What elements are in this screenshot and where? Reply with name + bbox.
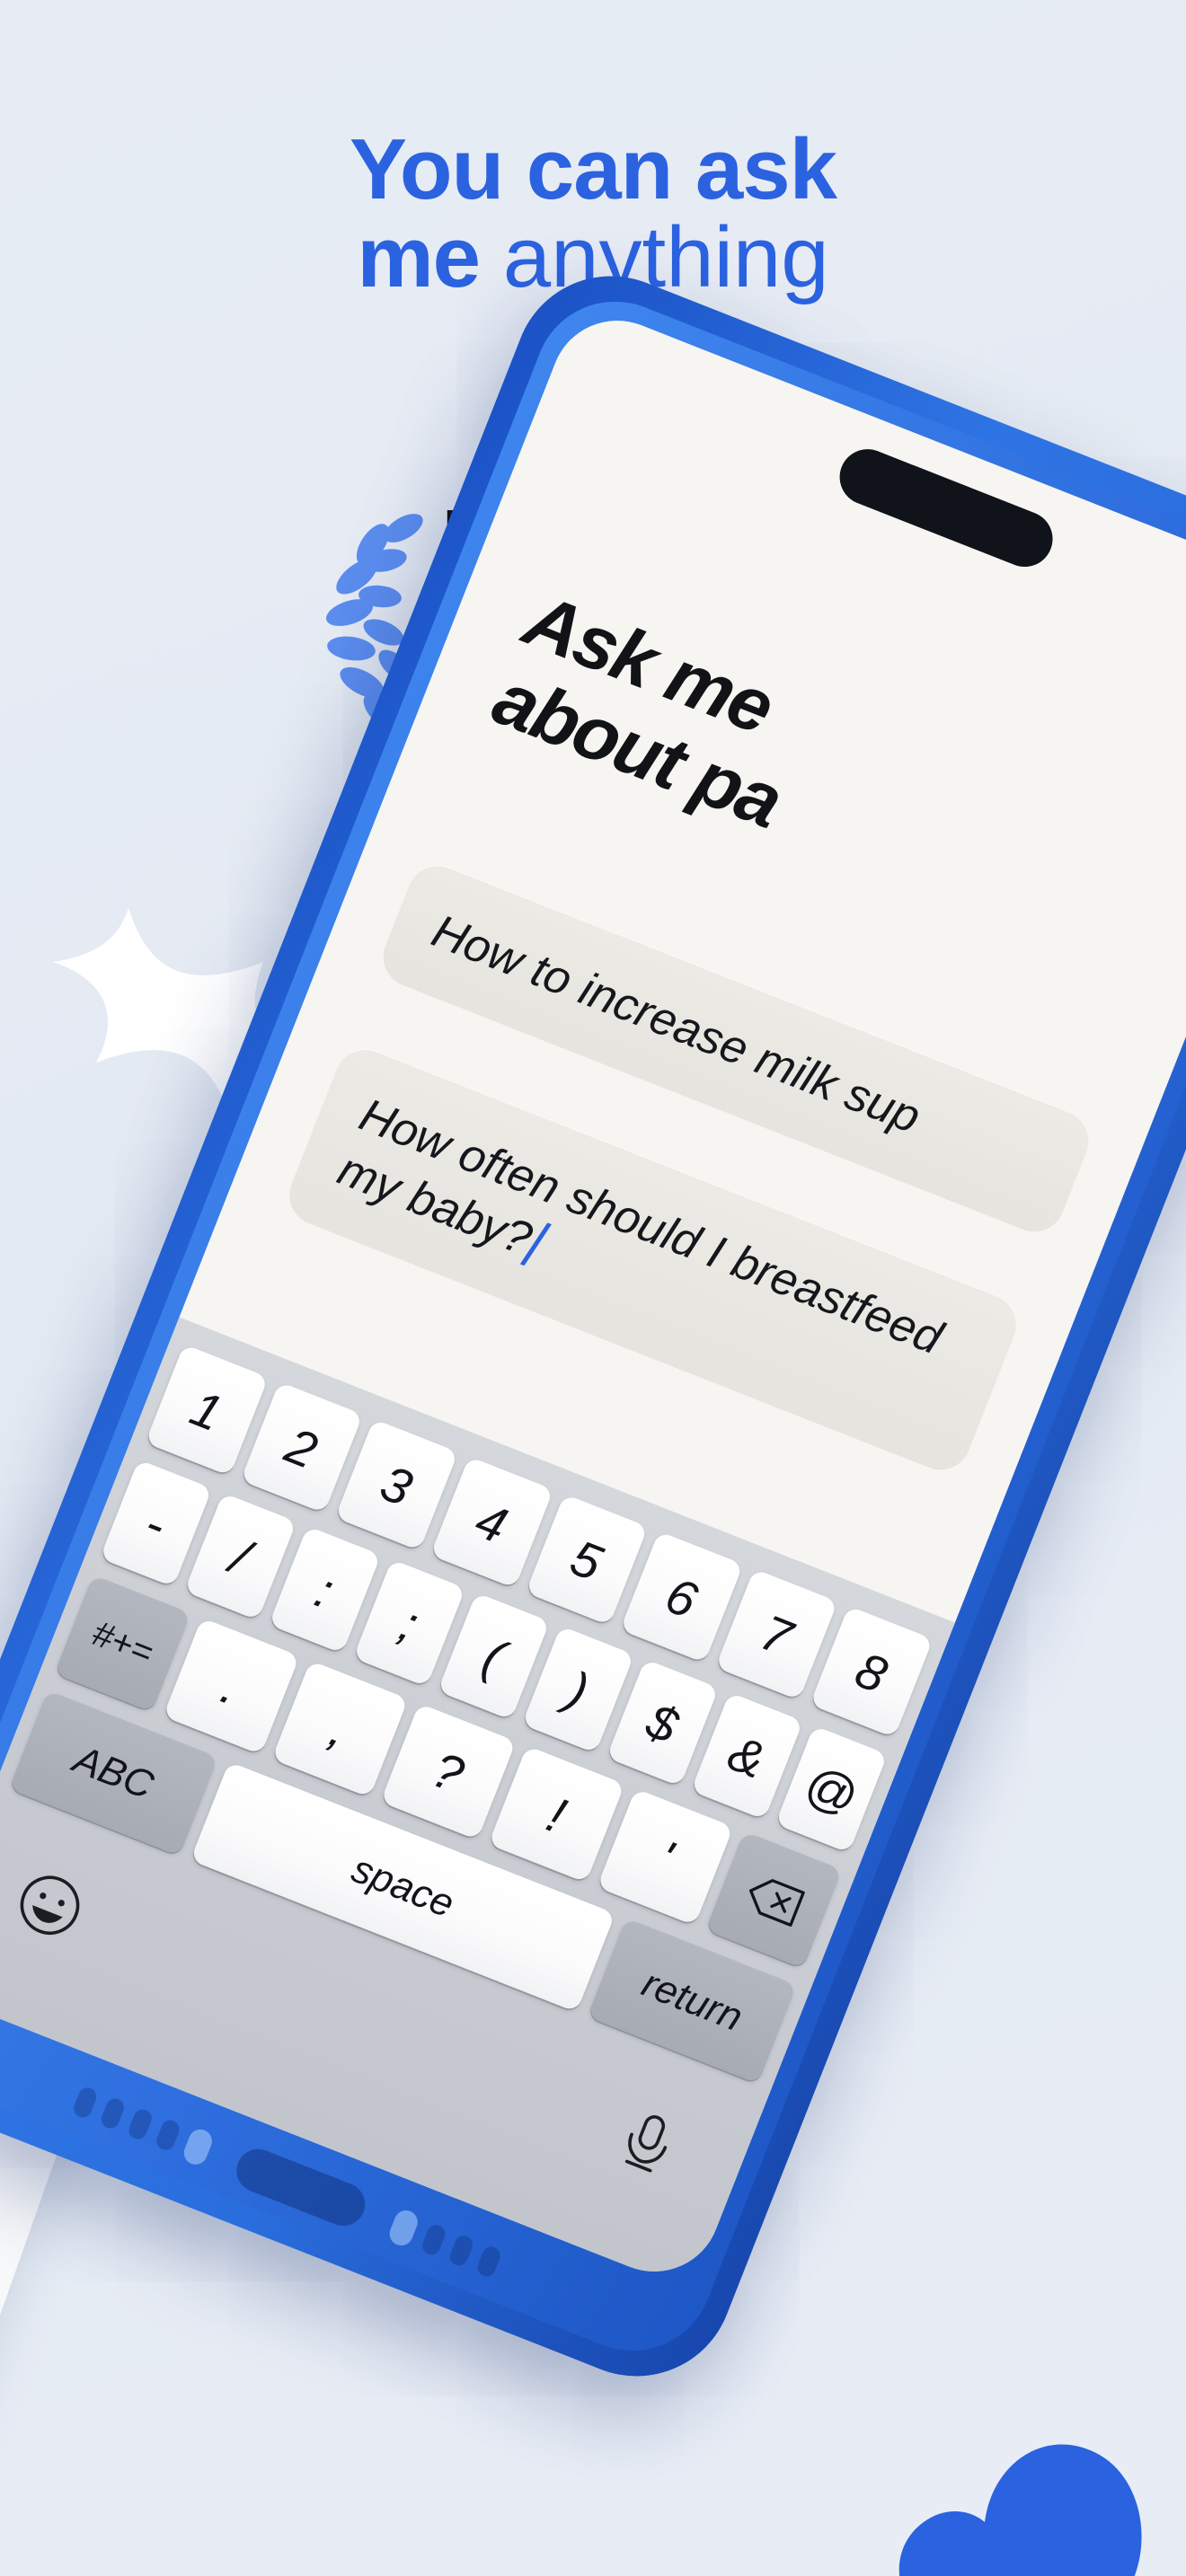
- speaker-hole: [447, 2233, 474, 2268]
- speaker-hole: [420, 2222, 447, 2257]
- delete-icon[interactable]: [705, 1831, 842, 1969]
- smiley-icon[interactable]: [6, 1863, 92, 1951]
- key-8[interactable]: 8: [810, 1606, 934, 1738]
- headline-line-1: You can ask: [0, 126, 1186, 214]
- speaker-hole: [98, 2095, 126, 2130]
- speaker-hole: [126, 2106, 154, 2141]
- key-question[interactable]: ?: [380, 1703, 517, 1840]
- key-symbols-toggle[interactable]: #+=: [54, 1575, 190, 1712]
- microphone-icon[interactable]: [605, 2098, 690, 2186]
- headline-word-me: me: [357, 209, 480, 305]
- phone-screw: [385, 2207, 420, 2249]
- phone-screw: [180, 2126, 215, 2168]
- key-period[interactable]: .: [163, 1618, 299, 1755]
- blue-cloud-blob: [881, 2396, 1159, 2576]
- speaker-hole: [154, 2118, 181, 2153]
- key-comma[interactable]: ,: [271, 1660, 408, 1797]
- key-exclamation[interactable]: !: [489, 1746, 625, 1883]
- phone-mockup: Ask me about pa How to increase milk sup…: [0, 247, 1186, 2404]
- speaker-hole: [71, 2085, 99, 2120]
- promo-screenshot: You can ask me anything: [0, 0, 1186, 2576]
- key-apostrophe[interactable]: ': [597, 1788, 734, 1926]
- speaker-hole: [474, 2244, 502, 2279]
